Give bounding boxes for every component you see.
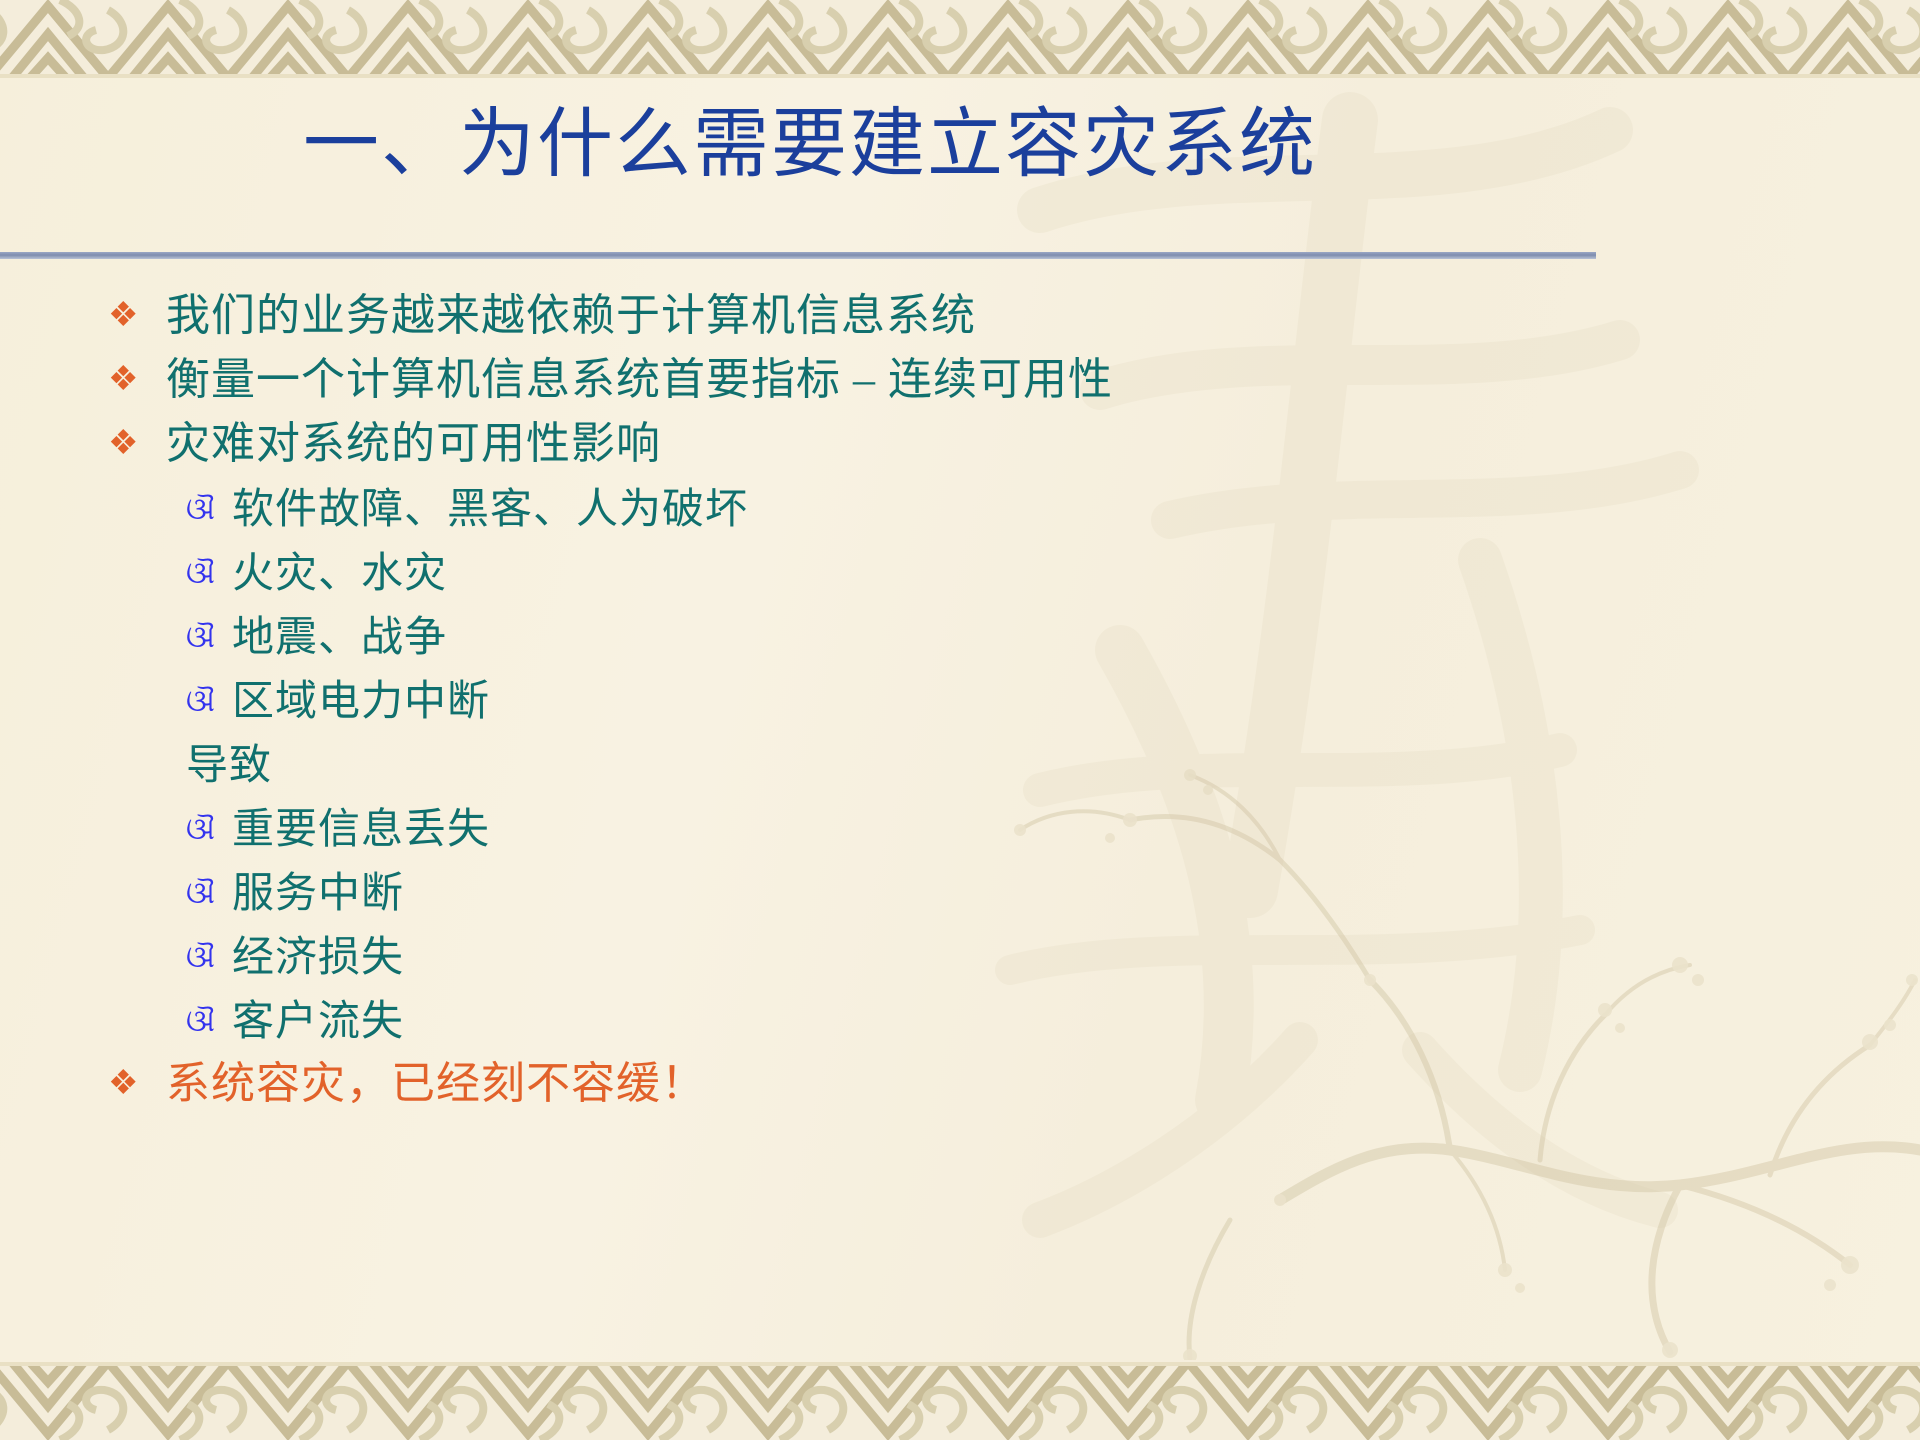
list-item: ଔ软件故障、黑客、人为破坏 xyxy=(104,478,1504,542)
list-item-label: 服务中断 xyxy=(232,862,404,926)
list-item: 导致 xyxy=(104,734,1504,798)
loop-bullet-icon: ଔ xyxy=(186,798,232,862)
title-divider-rule xyxy=(0,252,1596,259)
list-item: ଔ服务中断 xyxy=(104,862,1504,926)
diamond-bullet-icon: ❖ xyxy=(104,1054,166,1114)
top-ornament-border xyxy=(0,0,1920,78)
presentation-slide: 一、为什么需要建立容灾系统 ❖我们的业务越来越依赖于计算机信息系统❖衡量一个计算… xyxy=(0,0,1920,1440)
list-item: ଔ重要信息丢失 xyxy=(104,798,1504,862)
list-item-label: 区域电力中断 xyxy=(232,670,490,734)
list-item: ଔ区域电力中断 xyxy=(104,670,1504,734)
list-item: ❖系统容灾，已经刻不容缓！ xyxy=(104,1054,1504,1114)
loop-bullet-icon: ଔ xyxy=(186,606,232,670)
bullet-list: ❖我们的业务越来越依赖于计算机信息系统❖衡量一个计算机信息系统首要指标 – 连续… xyxy=(104,286,1504,1118)
list-item-label: 火灾、水灾 xyxy=(232,542,447,606)
list-item-label: 我们的业务越来越依赖于计算机信息系统 xyxy=(166,286,976,346)
diamond-bullet-icon: ❖ xyxy=(104,350,166,410)
diamond-bullet-icon: ❖ xyxy=(104,286,166,346)
list-item-label: 导致 xyxy=(186,734,272,798)
loop-bullet-icon: ଔ xyxy=(186,670,232,734)
loop-bullet-icon: ଔ xyxy=(186,926,232,990)
list-item: ଔ火灾、水灾 xyxy=(104,542,1504,606)
list-item: ❖灾难对系统的可用性影响 xyxy=(104,414,1504,474)
diamond-bullet-icon: ❖ xyxy=(104,414,166,474)
list-item-label: 衡量一个计算机信息系统首要指标 – 连续可用性 xyxy=(166,350,1113,410)
list-item: ଔ经济损失 xyxy=(104,926,1504,990)
page-title: 一、为什么需要建立容灾系统 xyxy=(0,104,1620,186)
loop-bullet-icon: ଔ xyxy=(186,990,232,1054)
list-item-label: 地震、战争 xyxy=(232,606,447,670)
title-block: 一、为什么需要建立容灾系统 xyxy=(0,104,1620,186)
list-item-label: 灾难对系统的可用性影响 xyxy=(166,414,661,474)
list-item-label: 经济损失 xyxy=(232,926,404,990)
loop-bullet-icon: ଔ xyxy=(186,542,232,606)
list-item: ଔ地震、战争 xyxy=(104,606,1504,670)
bottom-ornament-border xyxy=(0,1362,1920,1440)
list-item-label: 重要信息丢失 xyxy=(232,798,490,862)
list-item-label: 软件故障、黑客、人为破坏 xyxy=(232,478,748,542)
list-item-label: 客户流失 xyxy=(232,990,404,1054)
list-item: ❖衡量一个计算机信息系统首要指标 – 连续可用性 xyxy=(104,350,1504,410)
list-item: ଔ客户流失 xyxy=(104,990,1504,1054)
list-item-label: 系统容灾，已经刻不容缓！ xyxy=(166,1054,706,1114)
loop-bullet-icon: ଔ xyxy=(186,862,232,926)
loop-bullet-icon: ଔ xyxy=(186,478,232,542)
list-item: ❖我们的业务越来越依赖于计算机信息系统 xyxy=(104,286,1504,346)
